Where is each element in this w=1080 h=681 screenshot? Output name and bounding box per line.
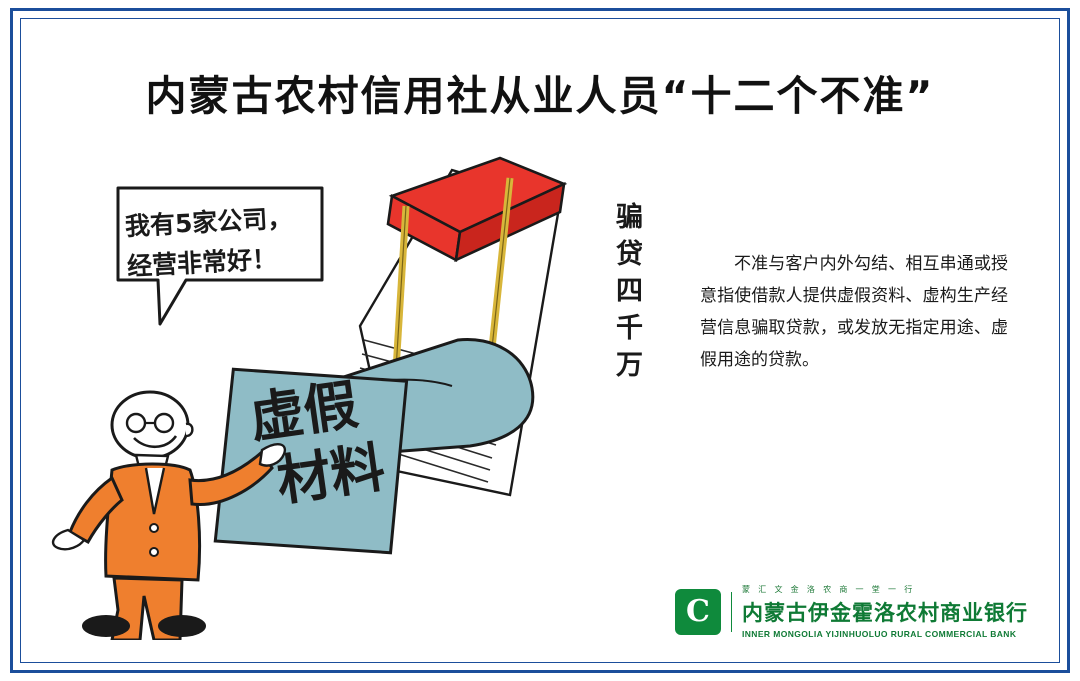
logo-divider xyxy=(731,592,732,632)
cartoon-businessman-shoes xyxy=(82,615,206,637)
bank-name-cn: 内蒙古伊金霍洛农村商业银行 xyxy=(742,597,1028,627)
speech-bubble-text: 我有5家公司， 经营非常好！ xyxy=(124,197,324,287)
poster-canvas: 内蒙古农村信用社从业人员“十二个不准” 不准与客户内外勾结、相互串通或授意指使借… xyxy=(0,0,1080,681)
bank-logo-text: 蒙 汇 文 金 洛 农 商 一 堂 一 行 内蒙古伊金霍洛农村商业银行 INNE… xyxy=(742,584,1028,639)
bank-name-en: INNER MONGOLIA YIJINHUOLUO RURAL COMMERC… xyxy=(742,629,1028,639)
corner-decor-top-left xyxy=(10,8,32,30)
corner-decor-bottom-left xyxy=(10,651,32,673)
poster-body-paragraph: 不准与客户内外勾结、相互串通或授意指使借款人提供虚假资料、虚构生产经营信息骗取贷… xyxy=(700,248,1008,376)
bank-logo-mark: C xyxy=(675,589,721,635)
vertical-caption: 骗贷四千万 xyxy=(612,202,646,387)
cartoon-illustration: 虚假 材料 xyxy=(40,140,700,640)
bank-logo: C 蒙 汇 文 金 洛 农 商 一 堂 一 行 内蒙古伊金霍洛农村商业银行 IN… xyxy=(675,584,1028,639)
corner-decor-bottom-right xyxy=(1048,651,1070,673)
poster-title: 内蒙古农村信用社从业人员“十二个不准” xyxy=(0,62,1080,122)
bank-logo-letter: C xyxy=(686,597,710,627)
bank-logo-tiny-line: 蒙 汇 文 金 洛 农 商 一 堂 一 行 xyxy=(742,584,1028,595)
corner-decor-top-right xyxy=(1048,8,1070,30)
